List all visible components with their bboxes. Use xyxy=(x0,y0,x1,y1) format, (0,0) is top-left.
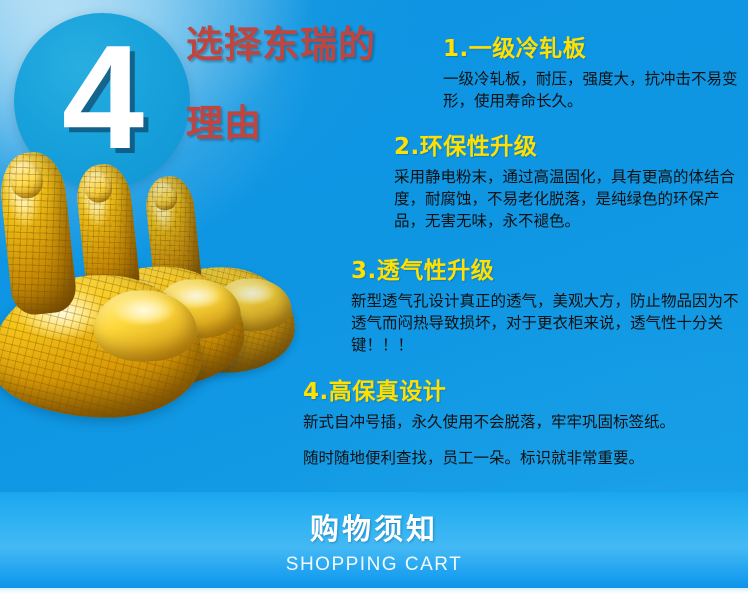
reason-heading-2: 2.环保性升级 xyxy=(394,134,746,162)
headline-line-1: 选择东瑞的 xyxy=(186,22,376,66)
reason-heading-1: 1.一级冷轧板 xyxy=(443,36,743,64)
reason-body-1: 一级冷轧板，耐压，强度大，抗冲击不易变形，使用寿命长久。 xyxy=(443,68,743,112)
badge-number-text: 4 xyxy=(14,24,190,172)
banner-title-cn: 购物须知 xyxy=(0,506,748,548)
shopping-notice-banner: 购物须知 SHOPPING CART xyxy=(0,492,748,588)
reason-block-2: 2.环保性升级 采用静电粉末，通过高温固化，具有更高的体结合度，耐腐蚀，不易老化… xyxy=(394,134,746,232)
banner-bottom-strip xyxy=(0,588,748,594)
reason-heading-4: 4.高保真设计 xyxy=(303,379,747,407)
reason-body-3: 新型透气孔设计真正的透气，美观大方，防止物品因为不透气而闷热导致损坏，对于更衣柜… xyxy=(351,290,747,356)
reason-body-4b: 随时随地便利查找，员工一朵。标识就非常重要。 xyxy=(303,447,747,469)
reason-body-2: 采用静电粉末，通过高温固化，具有更高的体结合度，耐腐蚀，不易老化脱落，是纯绿色的… xyxy=(394,166,746,232)
reason-block-1: 1.一级冷轧板 一级冷轧板，耐压，强度大，抗冲击不易变形，使用寿命长久。 xyxy=(443,36,743,112)
page-title: 选择东瑞的 理由 xyxy=(186,26,426,142)
reason-block-4: 4.高保真设计 新式自冲号插，永久使用不会脱落，牢牢巩固标签纸。 随时随地便利查… xyxy=(303,379,747,469)
reason-block-3: 3.透气性升级 新型透气孔设计真正的透气，美观大方，防止物品因为不透气而闷热导致… xyxy=(351,258,747,356)
reason-body-4a: 新式自冲号插，永久使用不会脱落，牢牢巩固标签纸。 xyxy=(303,411,747,433)
banner-title-en: SHOPPING CART xyxy=(0,554,748,576)
reason-heading-3: 3.透气性升级 xyxy=(351,258,747,286)
headline-line-2: 理由 xyxy=(186,105,426,142)
number-badge: 4 xyxy=(14,13,190,189)
promo-poster: 4 选择东瑞的 理由 1.一级冷轧 xyxy=(0,0,748,594)
